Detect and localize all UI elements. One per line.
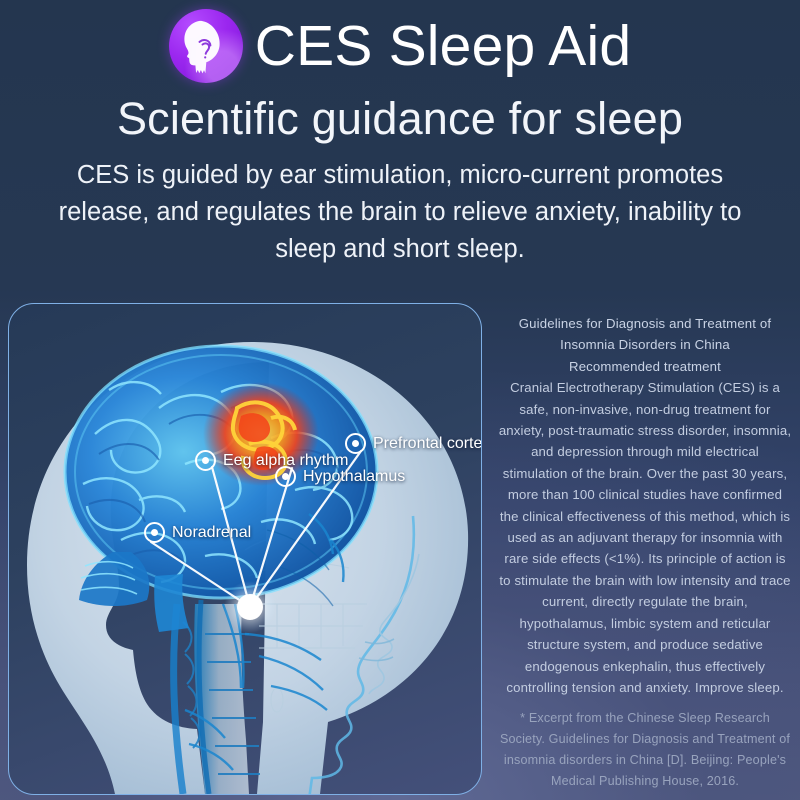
info-heading-line-1: Guidelines for Diagnosis and Treatment o… [497, 313, 793, 334]
page-title: CES Sleep Aid [255, 18, 632, 75]
illustration-panel: Eeg alpha rhythm Prefrontal cortex Hypot… [8, 303, 482, 795]
head-profile-ear-wave-icon [169, 9, 243, 83]
title-row: CES Sleep Aid [0, 0, 800, 92]
info-text-block: Guidelines for Diagnosis and Treatment o… [497, 313, 793, 698]
info-heading-line-2: Insomnia Disorders in China [497, 334, 793, 355]
page-lede: CES is guided by ear stimulation, micro-… [0, 157, 800, 268]
header: CES Sleep Aid Scientific guidance for sl… [0, 0, 800, 268]
poster-root: CES Sleep Aid Scientific guidance for sl… [0, 0, 800, 800]
info-footnote: * Excerpt from the Chinese Sleep Researc… [497, 708, 793, 792]
info-heading-line-3: Recommended treatment [497, 356, 793, 377]
info-body: Cranial Electrotherapy Stimulation (CES)… [497, 377, 793, 698]
head-anatomy-illustration [9, 304, 481, 794]
page-subtitle: Scientific guidance for sleep [0, 96, 800, 141]
